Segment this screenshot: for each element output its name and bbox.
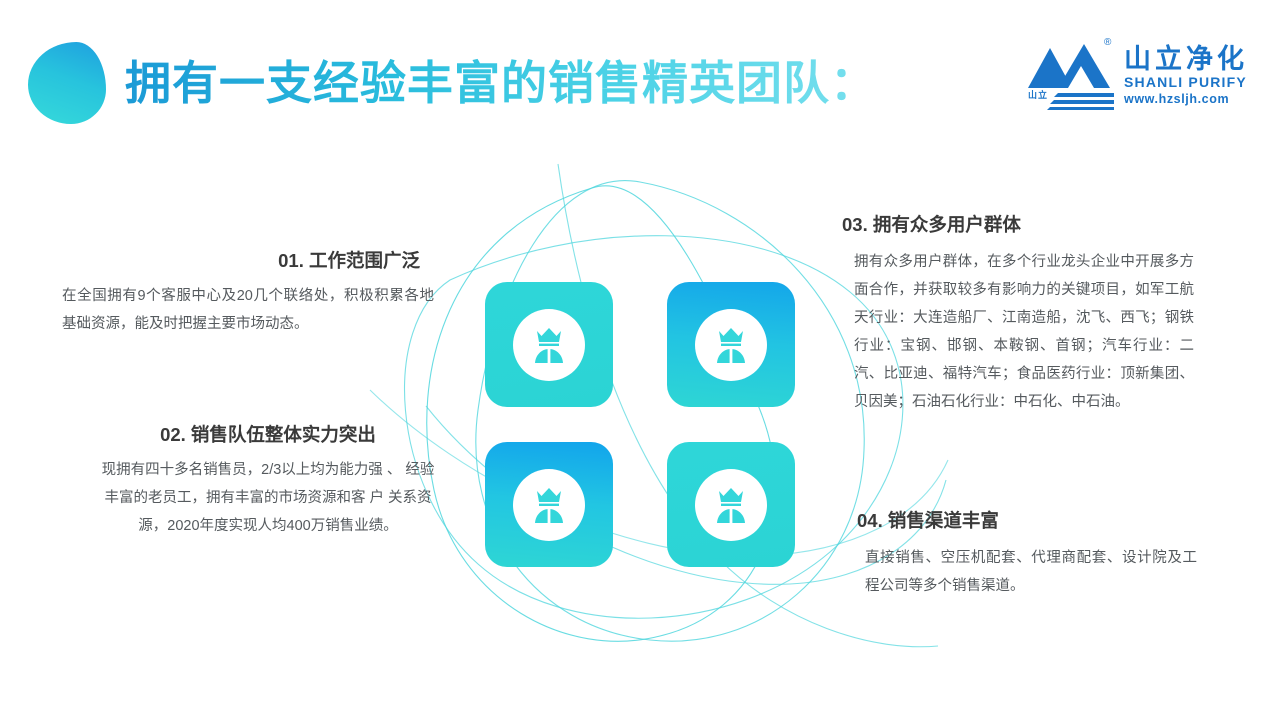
section-03-heading: 03. 拥有众多用户群体 bbox=[842, 212, 1194, 238]
section-01: 01. 工作范围广泛 在全国拥有9个客服中心及20几个联络处，积极积累各地基础资… bbox=[62, 248, 434, 338]
icon-tile-grid bbox=[485, 282, 735, 567]
tile-1[interactable] bbox=[485, 282, 613, 407]
logo-company-name-en: SHANLI PURIFY bbox=[1124, 74, 1248, 91]
section-04-heading: 04. 销售渠道丰富 bbox=[857, 508, 1197, 534]
logo-company-name-cn: 山立净化 bbox=[1124, 44, 1248, 74]
section-04-body: 直接销售、空压机配套、代理商配套、设计院及工程公司等多个销售渠道。 bbox=[857, 544, 1197, 600]
section-03-body: 拥有众多用户群体，在多个行业龙头企业中开展多方面合作，并获取较多有影响力的关键项… bbox=[842, 248, 1194, 416]
page-title: 拥有一支经验丰富的销售精英团队： bbox=[125, 54, 877, 112]
crowned-user-icon bbox=[528, 325, 570, 365]
crowned-user-icon bbox=[710, 325, 752, 365]
crowned-user-icon bbox=[528, 485, 570, 525]
section-02-heading: 02. 销售队伍整体实力突出 bbox=[100, 422, 436, 448]
section-04: 04. 销售渠道丰富 直接销售、空压机配套、代理商配套、设计院及工程公司等多个销… bbox=[857, 508, 1197, 600]
logo-website-url: www.hzsljh.com bbox=[1124, 91, 1248, 107]
tile-4-icon-circle bbox=[695, 469, 767, 541]
registered-trademark-icon: ® bbox=[1104, 38, 1111, 48]
section-02-body: 现拥有四十多名销售员，2/3以上均为能力强 、 经验丰富的老员工，拥有丰富的市场… bbox=[100, 456, 436, 540]
slide-canvas: 拥有一支经验丰富的销售精英团队： ® 山立 山立净化 SHANLI PURIFY… bbox=[0, 0, 1280, 720]
section-01-heading: 01. 工作范围广泛 bbox=[62, 248, 434, 274]
tile-4[interactable] bbox=[667, 442, 795, 567]
logo-mark-caption: 山立 bbox=[1028, 88, 1048, 101]
tile-3-icon-circle bbox=[513, 469, 585, 541]
crowned-user-icon bbox=[710, 485, 752, 525]
company-logo: ® 山立 山立净化 SHANLI PURIFY www.hzsljh.com bbox=[1028, 38, 1250, 114]
section-01-body: 在全国拥有9个客服中心及20几个联络处，积极积累各地基础资源，能及时把握主要市场… bbox=[62, 282, 434, 338]
tile-3[interactable] bbox=[485, 442, 613, 567]
tile-2-icon-circle bbox=[695, 309, 767, 381]
slide-header: 拥有一支经验丰富的销售精英团队： ® 山立 山立净化 SHANLI PURIFY… bbox=[0, 0, 1280, 150]
section-02: 02. 销售队伍整体实力突出 现拥有四十多名销售员，2/3以上均为能力强 、 经… bbox=[100, 422, 436, 540]
tile-2[interactable] bbox=[667, 282, 795, 407]
section-03: 03. 拥有众多用户群体 拥有众多用户群体，在多个行业龙头企业中开展多方面合作，… bbox=[842, 212, 1194, 416]
logo-wordmark: 山立净化 SHANLI PURIFY www.hzsljh.com bbox=[1124, 44, 1248, 107]
tile-1-icon-circle bbox=[513, 309, 585, 381]
title-accent-blob bbox=[28, 42, 106, 124]
